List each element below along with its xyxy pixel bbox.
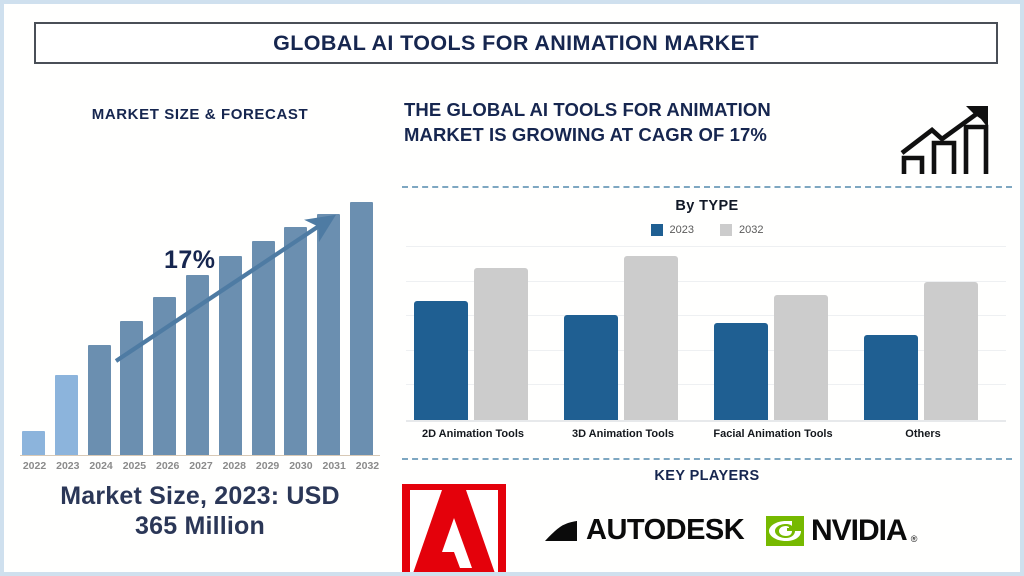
headline-row: THE GLOBAL AI TOOLS FOR ANIMATION MARKET… [404,98,1014,176]
market-size-bar [186,275,209,455]
market-size-line-2: 365 Million [10,512,390,542]
divider-bottom [402,458,1012,460]
cagr-annotation: 17% [164,246,216,275]
by-type-bar [624,256,678,420]
year-axis-label: 2024 [87,460,116,472]
market-size-bar [252,241,275,455]
by-type-bar-chart [406,246,1006,422]
details-panel: THE GLOBAL AI TOOLS FOR ANIMATION MARKET… [396,76,1024,576]
by-type-bar [774,295,828,420]
autodesk-wordmark: AUTODESK [586,514,744,547]
headline-line-2: MARKET IS GROWING AT CAGR OF 17% [404,123,890,148]
autodesk-logo[interactable]: AUTODESK [544,514,744,547]
by-type-baseline [406,420,1006,422]
market-size-bar [284,227,307,455]
year-axis-label: 2022 [20,460,49,472]
by-type-bar [474,268,528,420]
legend-swatch [720,224,732,236]
market-size-bar [120,321,143,455]
market-size-bar [350,202,373,455]
year-axis-label: 2031 [320,460,349,472]
year-axis-label: 2026 [153,460,182,472]
legend-swatch [651,224,663,236]
legend-entry[interactable]: 2032 [720,224,763,236]
legend-label: 2032 [739,224,763,236]
by-type-category-label: 3D Animation Tools [556,428,690,440]
market-size-bar [88,345,111,455]
headline-line-1: THE GLOBAL AI TOOLS FOR ANIMATION [404,98,890,123]
by-type-bar-group [414,246,532,420]
market-size-baseline [20,455,380,456]
divider-top [402,186,1012,188]
by-type-bar [714,323,768,420]
market-size-bar [22,431,45,455]
year-axis-label: 2030 [286,460,315,472]
year-axis-label: 2027 [186,460,215,472]
infographic-page: GLOBAL AI TOOLS FOR ANIMATION MARKET MAR… [0,0,1024,576]
market-size-bar [317,214,340,455]
page-title: GLOBAL AI TOOLS FOR ANIMATION MARKET [273,31,759,56]
market-headline: THE GLOBAL AI TOOLS FOR ANIMATION MARKET… [404,98,890,148]
by-type-bar-group [714,246,832,420]
by-type-category-label: Facial Animation Tools [706,428,840,440]
bar-chart-growth-icon [896,102,1008,178]
key-players-heading: KEY PLAYERS [402,468,1012,484]
by-type-bar-group [864,246,982,420]
year-axis-label: 2025 [120,460,149,472]
market-size-value: Market Size, 2023: USD 365 Million [10,482,390,541]
by-type-legend: 20232032 [402,224,1012,236]
year-axis-label: 2023 [53,460,82,472]
legend-entry[interactable]: 2023 [651,224,694,236]
nvidia-wordmark: NVIDIA [811,514,907,548]
adobe-logo[interactable] [402,484,506,576]
nvidia-registered-mark: ® [911,534,918,544]
year-axis-label: 2028 [220,460,249,472]
market-size-bar [55,375,78,455]
by-type-category-labels: 2D Animation Tools3D Animation ToolsFaci… [406,428,1006,448]
market-size-line-1: Market Size, 2023: USD [10,482,390,512]
market-size-year-axis: 2022202320242025202620272028202920302031… [20,460,382,472]
nvidia-logo[interactable]: NVIDIA ® [766,514,917,548]
autodesk-mark-icon [544,520,578,542]
year-axis-label: 2029 [253,460,282,472]
by-type-category-label: 2D Animation Tools [406,428,540,440]
market-size-bar-chart: 17% [4,136,396,456]
page-title-box: GLOBAL AI TOOLS FOR ANIMATION MARKET [34,22,998,64]
by-type-bar [414,301,468,420]
market-size-heading: MARKET SIZE & FORECAST [4,106,396,123]
by-type-category-label: Others [856,428,990,440]
nvidia-eye-icon [766,516,804,546]
market-size-bar [153,297,176,455]
market-size-panel: MARKET SIZE & FORECAST 17% 2022202320242… [4,76,396,576]
key-players-logos: AUTODESK NVIDIA ® [396,488,1016,576]
by-type-bar [864,335,918,420]
by-type-heading: By TYPE [402,198,1012,214]
by-type-bar [564,315,618,420]
legend-label: 2023 [670,224,694,236]
by-type-bar [924,282,978,420]
year-axis-label: 2032 [353,460,382,472]
by-type-bar-group [564,246,682,420]
market-size-bar [219,256,242,455]
